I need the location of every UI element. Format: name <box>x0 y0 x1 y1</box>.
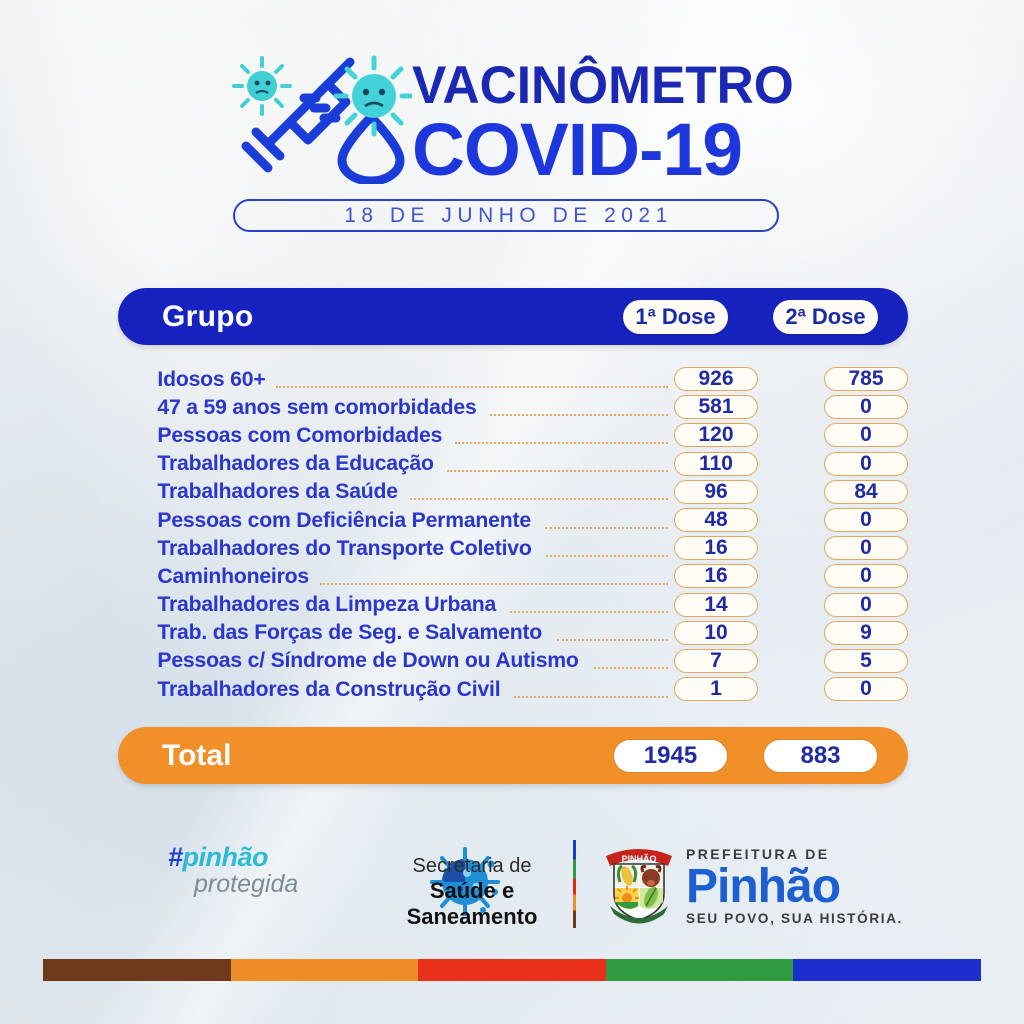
leader-dots <box>594 666 668 669</box>
coat-of-arms-banner-text: PINHÃO <box>621 854 656 864</box>
column-header-dose2: 2ª Dose <box>773 300 878 334</box>
row-dose1-value: 48 <box>674 508 758 532</box>
campaign-subword: protegida <box>194 871 348 897</box>
color-bar-segment <box>231 959 419 981</box>
row-dose1-value: 16 <box>674 536 758 560</box>
footer-divider <box>573 840 576 928</box>
color-bar-segment <box>418 959 606 981</box>
table-row: Trabalhadores da Educação1100 <box>118 450 908 478</box>
secretaria-line1: Secretaria de <box>372 854 572 878</box>
total-label: Total <box>162 739 231 773</box>
row-group-label: Pessoas c/ Síndrome de Down ou Autismo <box>118 648 579 673</box>
leader-dots <box>320 582 668 585</box>
row-group-label: Pessoas com Deficiência Permanente <box>118 508 531 533</box>
table-row: Trabalhadores da Construção Civil10 <box>118 675 908 703</box>
color-bar-segment <box>793 959 981 981</box>
row-dose2-value: 9 <box>824 621 908 645</box>
virus-icon <box>234 58 290 114</box>
row-dose1-value: 1 <box>674 677 758 701</box>
date-text: 18 DE JUNHO DE 2021 <box>339 204 673 228</box>
row-group-label: Trabalhadores da Limpeza Urbana <box>118 592 496 617</box>
row-dose1-value: 14 <box>674 593 758 617</box>
row-dose2-value: 0 <box>824 423 908 447</box>
row-dose2-value: 0 <box>824 677 908 701</box>
row-group-label: 47 a 59 anos sem comorbidades <box>118 395 477 420</box>
row-group-label: Trab. das Forças de Seg. e Salvamento <box>118 620 542 645</box>
row-dose1-value: 581 <box>674 395 758 419</box>
leader-dots <box>545 526 668 529</box>
row-dose1-value: 16 <box>674 564 758 588</box>
coat-of-arms-icon: PINHÃO <box>600 840 678 928</box>
row-group-label: Idosos 60+ <box>118 367 265 392</box>
total-dose1-value: 1945 <box>613 739 728 773</box>
leader-dots <box>447 469 668 472</box>
footer: #pinhão protegida <box>0 832 1024 937</box>
row-dose2-value: 84 <box>824 480 908 504</box>
table-body: Idosos 60+92678547 a 59 anos sem comorbi… <box>118 365 908 703</box>
secretaria-line2: Saúde e Saneamento <box>372 878 572 930</box>
row-dose1-value: 96 <box>674 480 758 504</box>
row-dose1-value: 7 <box>674 649 758 673</box>
prefeitura-line3: SEU POVO, SUA HISTÓRIA. <box>686 911 946 926</box>
total-dose2-value: 883 <box>763 739 878 773</box>
row-dose2-value: 0 <box>824 508 908 532</box>
row-group-label: Trabalhadores da Construção Civil <box>118 677 500 702</box>
leader-dots <box>410 497 668 500</box>
table-row: Idosos 60+926785 <box>118 365 908 393</box>
leader-dots <box>276 385 668 388</box>
row-dose1-value: 120 <box>674 423 758 447</box>
leader-dots <box>557 638 668 641</box>
row-group-label: Trabalhadores do Transporte Coletivo <box>118 536 532 561</box>
table-row: Trab. das Forças de Seg. e Salvamento109 <box>118 619 908 647</box>
row-dose2-value: 0 <box>824 564 908 588</box>
row-dose1-value: 926 <box>674 367 758 391</box>
table-row: Pessoas com Comorbidades1200 <box>118 421 908 449</box>
table-row: Pessoas com Deficiência Permanente480 <box>118 506 908 534</box>
color-bar <box>43 959 981 981</box>
row-dose1-value: 110 <box>674 452 758 476</box>
leader-dots <box>514 695 668 698</box>
title-block: VACINÔMETRO COVID-19 <box>412 60 812 186</box>
table-row: Trabalhadores do Transporte Coletivo160 <box>118 534 908 562</box>
row-group-label: Caminhoneiros <box>118 564 309 589</box>
row-group-label: Trabalhadores da Educação <box>118 451 434 476</box>
row-dose1-value: 10 <box>674 621 758 645</box>
row-dose2-value: 0 <box>824 536 908 560</box>
date-badge: 18 DE JUNHO DE 2021 <box>233 199 779 232</box>
table-row: Caminhoneiros160 <box>118 562 908 590</box>
table-header-bar: Grupo 1ª Dose 2ª Dose <box>118 288 908 345</box>
secretaria-block: Secretaria de Saúde e Saneamento <box>372 854 572 930</box>
column-header-group: Grupo <box>162 300 254 334</box>
table-row: Trabalhadores da Saúde9684 <box>118 478 908 506</box>
prefeitura-line2: Pinhão <box>686 862 946 911</box>
campaign-word: pinhão <box>183 842 269 872</box>
color-bar-segment <box>606 959 794 981</box>
row-dose2-value: 0 <box>824 395 908 419</box>
virus-icon <box>336 58 412 134</box>
page-title-line2: COVID-19 <box>412 114 808 186</box>
leader-dots <box>455 441 668 444</box>
leader-dots <box>546 554 668 557</box>
row-dose2-value: 0 <box>824 593 908 617</box>
campaign-logo: #pinhão protegida <box>168 844 348 914</box>
row-group-label: Trabalhadores da Saúde <box>118 479 398 504</box>
total-bar: Total 1945 883 <box>118 727 908 784</box>
table-row: Trabalhadores da Limpeza Urbana140 <box>118 591 908 619</box>
color-bar-segment <box>43 959 231 981</box>
page-title-line1: VACINÔMETRO <box>412 60 800 112</box>
column-header-dose1: 1ª Dose <box>623 300 728 334</box>
leader-dots <box>490 413 668 416</box>
prefeitura-logo: PREFEITURA DE Pinhão SEU POVO, SUA HISTÓ… <box>686 846 946 926</box>
campaign-hash: # <box>168 842 183 872</box>
row-dose2-value: 0 <box>824 452 908 476</box>
row-group-label: Pessoas com Comorbidades <box>118 423 442 448</box>
row-dose2-value: 785 <box>824 367 908 391</box>
vaccine-logo-art <box>232 54 412 184</box>
leader-dots <box>510 610 668 613</box>
table-row: Pessoas c/ Síndrome de Down ou Autismo75 <box>118 647 908 675</box>
row-dose2-value: 5 <box>824 649 908 673</box>
table-row: 47 a 59 anos sem comorbidades5810 <box>118 393 908 421</box>
